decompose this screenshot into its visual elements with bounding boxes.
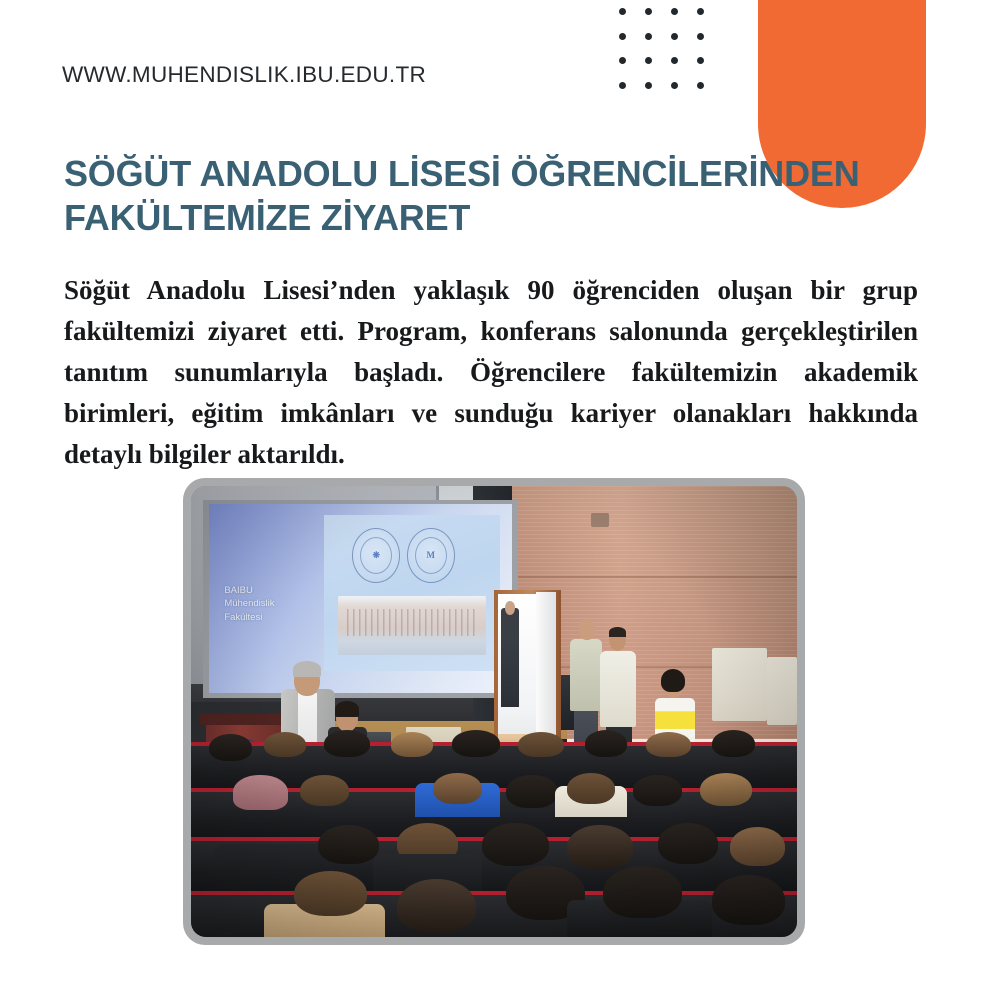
dot: [619, 33, 626, 40]
audience-head: [482, 823, 549, 867]
audience-head: [300, 775, 348, 806]
faculty-seal-icon: M: [407, 528, 455, 583]
photo-frame: ❋ M BAIBU Mühendislik Fakültesi M: [183, 478, 805, 945]
wall-vent: [591, 513, 609, 527]
dot: [671, 82, 678, 89]
standing-person-jacket: [570, 639, 603, 711]
standing-person-sweater: [600, 651, 636, 728]
projection-screen: ❋ M BAIBU Mühendislik Fakültesi: [209, 504, 512, 693]
slide-text-block: BAIBU Mühendislik Fakültesi: [224, 584, 315, 625]
dot: [671, 8, 678, 15]
presentation-slide: ❋ M: [324, 515, 500, 670]
seal-inner-glyph: M: [415, 537, 447, 574]
assistant-hair: [335, 701, 359, 717]
dot: [697, 33, 704, 40]
presenter-hair: [293, 661, 321, 677]
site-url: WWW.MUHENDISLIK.IBU.EDU.TR: [62, 62, 426, 88]
audience-head: [391, 732, 433, 757]
person-head: [505, 601, 515, 615]
wall-panel: [767, 657, 797, 725]
standing-person-head: [579, 619, 595, 640]
audience-head: [700, 773, 752, 806]
audience-head: [567, 773, 615, 804]
slide-line-2: Mühendislik: [224, 597, 315, 611]
dot: [619, 82, 626, 89]
audience-area: [191, 730, 797, 937]
audience-head: [567, 825, 634, 869]
wall-panel: [712, 648, 767, 720]
dot: [697, 82, 704, 89]
standing-person-hair: [661, 669, 685, 692]
dot-grid-decoration: [619, 8, 723, 106]
audience-head: [433, 773, 481, 804]
audience-head: [658, 823, 719, 864]
dot: [697, 8, 704, 15]
audience-head: [518, 732, 563, 757]
page-title: SÖĞÜT ANADOLU LİSESİ ÖĞRENCİLERİNDEN FAK…: [64, 152, 944, 240]
dot: [619, 8, 626, 15]
dot: [697, 57, 704, 64]
audience-head: [264, 732, 306, 757]
audience-head: [294, 871, 367, 917]
article-paragraph: Söğüt Anadolu Lisesi’nden yaklaşık 90 öğ…: [64, 270, 918, 475]
audience-headscarf: [233, 775, 288, 810]
seal-inner-glyph: ❋: [360, 537, 392, 574]
audience-head: [452, 730, 500, 757]
audience-head: [209, 734, 251, 761]
dot: [671, 33, 678, 40]
university-seal-icon: ❋: [352, 528, 400, 583]
dot: [645, 57, 652, 64]
audience-head: [324, 730, 369, 757]
event-photo: ❋ M BAIBU Mühendislik Fakültesi M: [191, 486, 797, 937]
audience-head: [633, 775, 681, 806]
dot: [645, 8, 652, 15]
audience-head: [585, 730, 627, 757]
audience-head: [318, 825, 379, 864]
slide-line-1: BAIBU: [224, 584, 315, 598]
dot: [645, 82, 652, 89]
dot: [671, 57, 678, 64]
dot: [645, 33, 652, 40]
slide-line-3: Fakültesi: [224, 611, 315, 625]
audience-head: [603, 866, 682, 918]
wall-seam: [476, 576, 797, 578]
audience-head: [712, 730, 754, 757]
standing-person-hair: [609, 627, 626, 637]
person-in-doorway: [501, 608, 519, 707]
audience-head: [730, 827, 785, 866]
audience-head: [646, 732, 691, 757]
audience-head: [397, 879, 476, 933]
dot: [619, 57, 626, 64]
audience-head: [506, 775, 558, 808]
audience-head: [712, 875, 785, 925]
campus-building-image: [338, 596, 486, 655]
lectern-top: [200, 714, 288, 725]
